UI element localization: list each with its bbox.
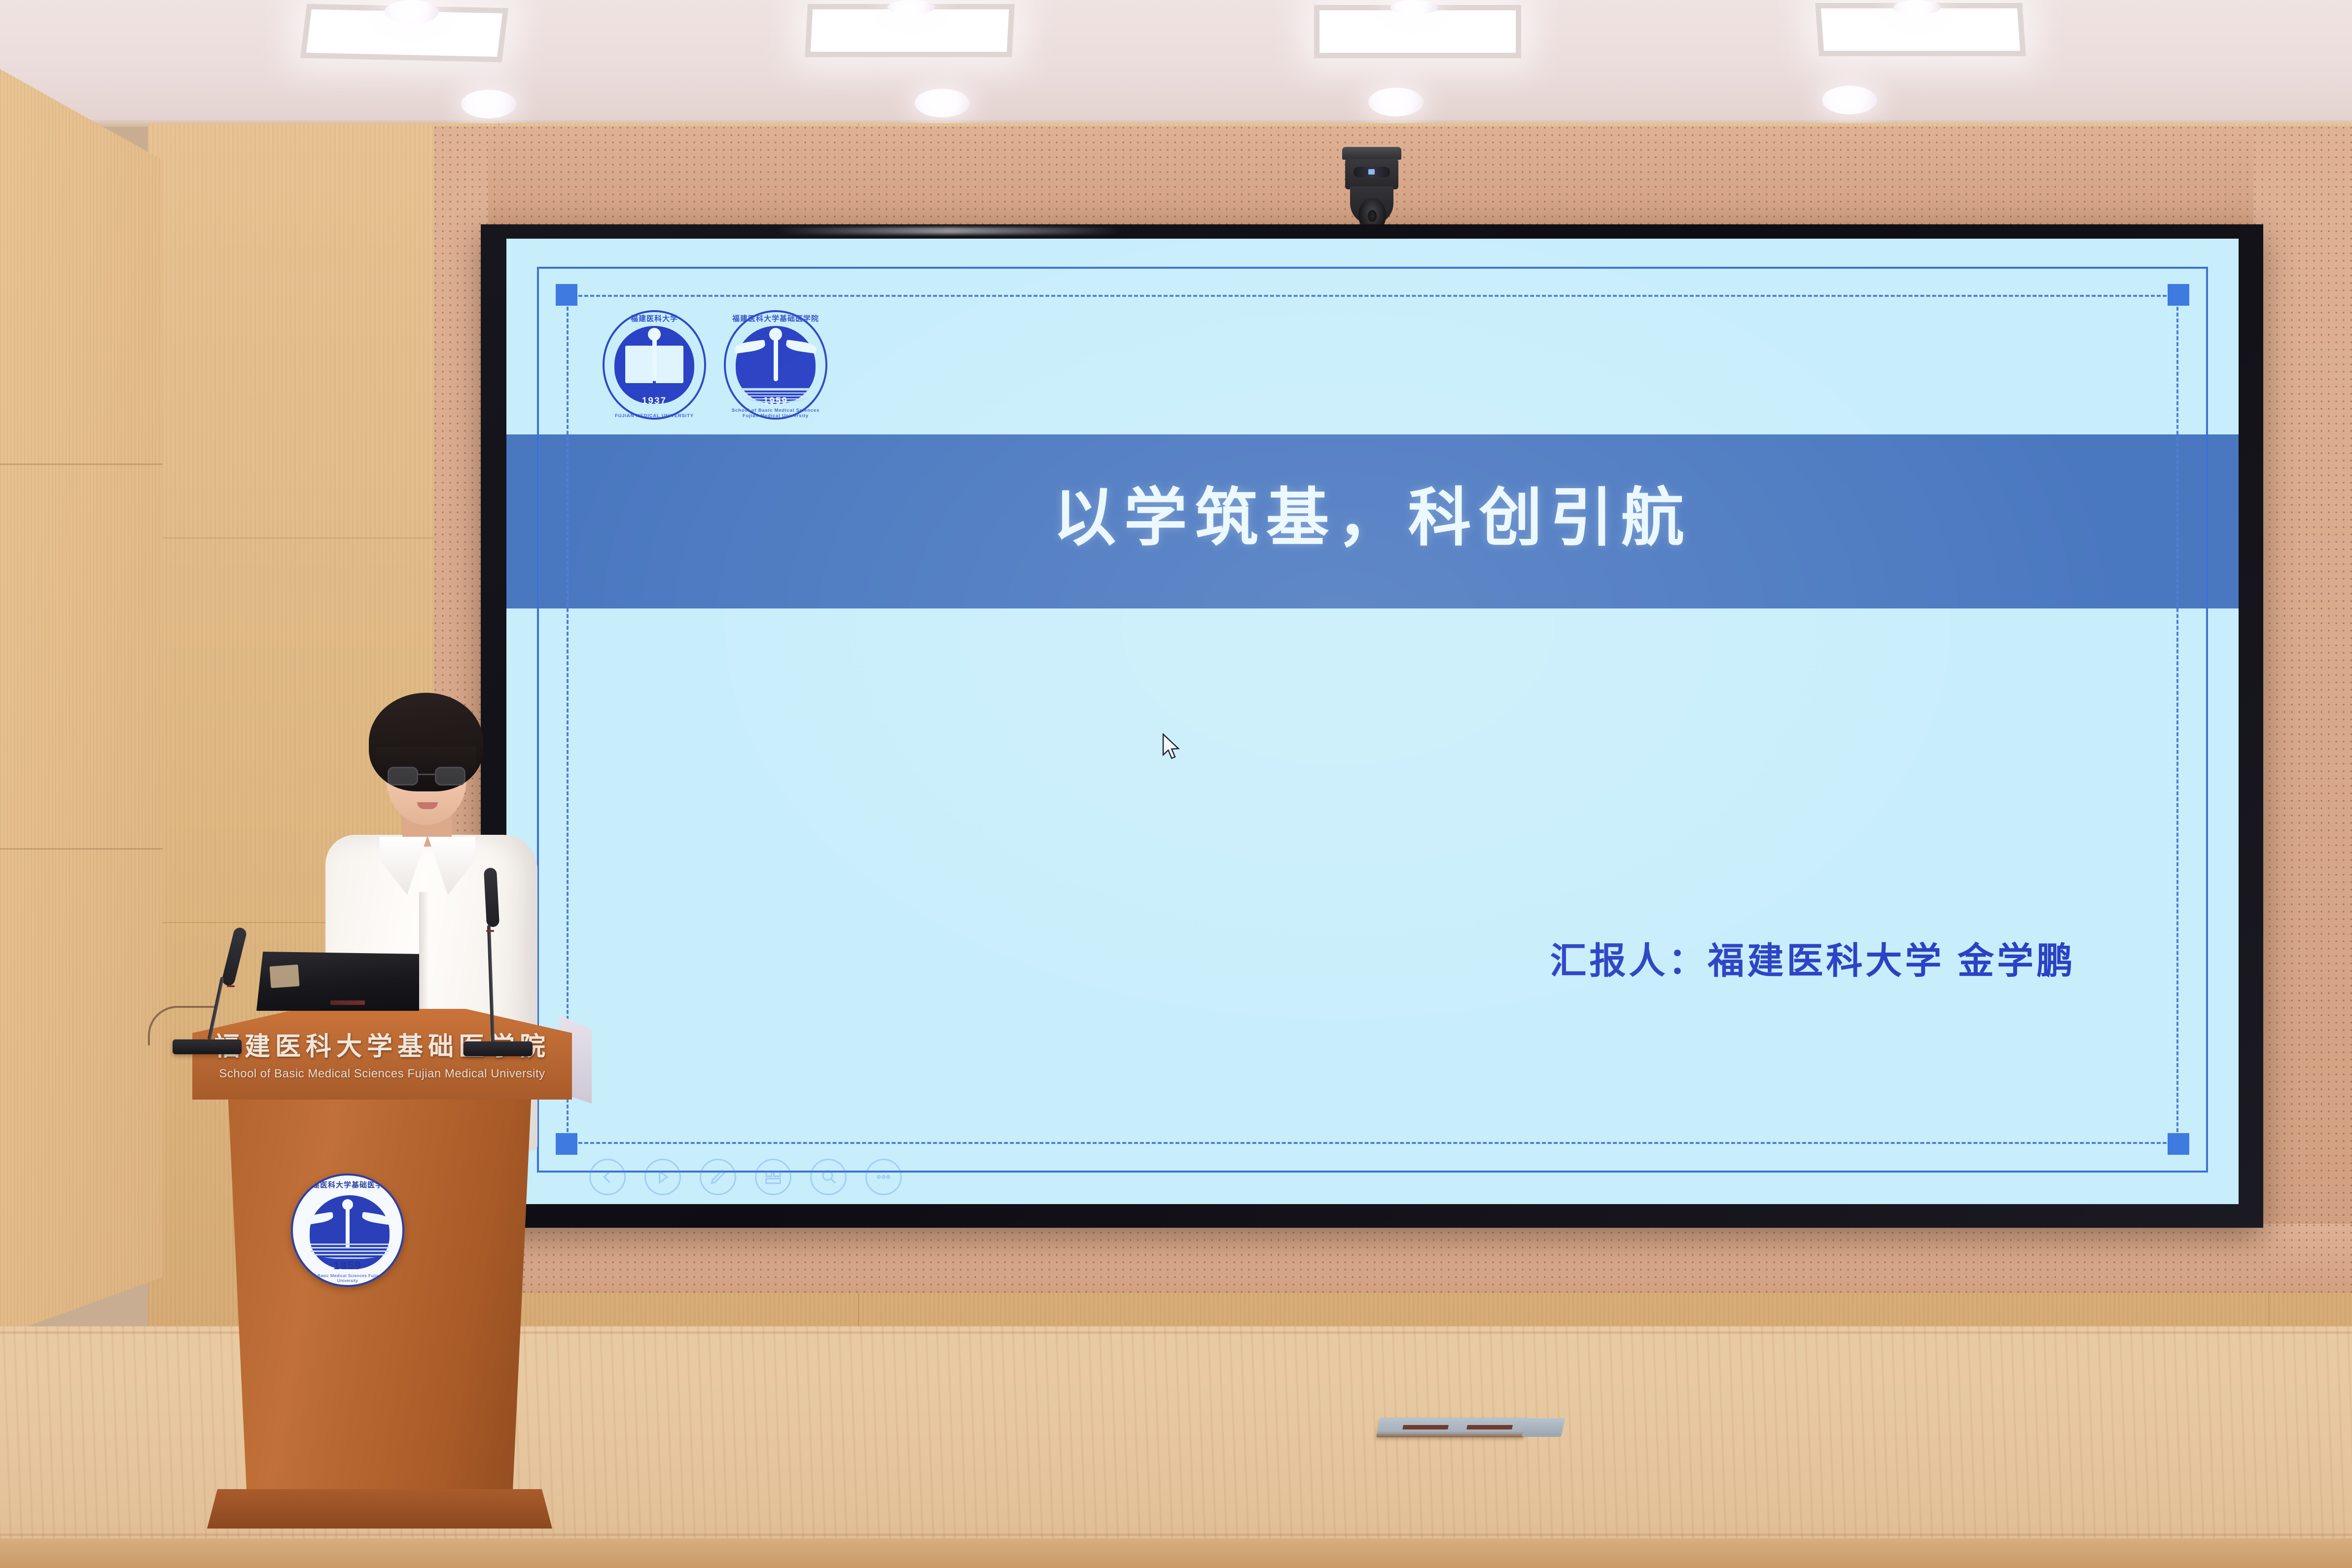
school-of-basic-medical-sciences-logo: 福建医科大学基础医学院 1959 School of Basic Medical… — [724, 310, 827, 420]
corner-marker-bottom-right — [2168, 1133, 2189, 1155]
logo-year: 1937 — [603, 396, 706, 407]
lectern-emblem: 福建医科大学基础医学院 1959 School of Basic Medical… — [291, 1174, 404, 1287]
laptop-brand-logo — [330, 1000, 365, 1005]
gooseneck-microphone-right — [444, 868, 557, 1065]
corner-marker-top-left — [556, 284, 577, 306]
emblem-open-book — [311, 1244, 389, 1259]
acoustic-panel — [434, 1224, 2352, 1293]
emblem-cn-text: 福建医科大学基础医学院 — [293, 1179, 402, 1190]
slide-title: 以学筑基，科创引航 — [506, 466, 2239, 558]
microphone-base — [173, 1039, 242, 1054]
logo-year: 1959 — [724, 396, 827, 407]
ceiling-downlight — [1822, 86, 1877, 114]
microphone-gooseneck — [487, 925, 495, 1043]
previous-slide-icon[interactable] — [589, 1159, 626, 1195]
microphone-base — [463, 1041, 533, 1056]
lecture-hall-scene: 福建医科大学 1937 FUJIAN MEDICAL UNIVERSITY 福建… — [0, 0, 2352, 1568]
logo-caduceus-knob — [648, 328, 661, 341]
microphone-head — [221, 927, 248, 987]
microphone-head — [484, 867, 499, 927]
ceiling-downlight — [1893, 0, 1941, 15]
slide-logos: 福建医科大学 1937 FUJIAN MEDICAL UNIVERSITY 福建… — [603, 310, 827, 420]
microphone-gooseneck — [208, 977, 224, 1040]
pen-icon[interactable] — [700, 1159, 736, 1195]
floor-socket-cover — [1376, 1418, 1529, 1437]
lectern-en-name: School of Basic Medical Sciences Fujian … — [192, 1067, 572, 1081]
logo-en-text: FUJIAN MEDICAL UNIVERSITY — [603, 413, 706, 419]
stage-front-edge — [0, 1538, 2352, 1568]
ceiling-downlight — [385, 0, 439, 24]
floor-socket-cover — [1522, 1418, 1565, 1437]
emblem-caduceus-knob — [342, 1199, 353, 1210]
slideshow-control-bar[interactable] — [589, 1159, 902, 1195]
ceiling-downlight — [915, 89, 970, 117]
camera-body — [1345, 159, 1398, 189]
camera-mount — [1342, 147, 1401, 160]
ceiling-downlight — [461, 90, 516, 118]
emblem-year: 1959 — [293, 1259, 402, 1272]
acoustic-panel — [2253, 126, 2352, 1236]
corner-marker-top-right — [2168, 284, 2189, 306]
slide-author-line: 汇报人：福建医科大学 金学鹏 — [1550, 931, 2076, 984]
more-options-icon[interactable] — [865, 1159, 902, 1195]
zoom-icon[interactable] — [810, 1159, 847, 1195]
wall-seam — [0, 463, 163, 465]
wall-seam — [0, 848, 163, 850]
emblem-en-text: School of Basic Medical Sciences Fujian … — [293, 1273, 402, 1283]
logo-en-text: School of Basic Medical Sciences Fujian … — [724, 408, 827, 419]
microphone-indicator-ring — [227, 985, 235, 987]
ceiling-downlight — [1368, 88, 1424, 116]
lectern-body — [222, 1099, 537, 1503]
lectern-base — [207, 1489, 552, 1529]
bezel-reflection — [777, 227, 1122, 234]
slide-view-icon[interactable] — [755, 1159, 791, 1195]
logo-cn-text: 福建医科大学基础医学院 — [724, 313, 827, 323]
mouse-cursor — [1162, 733, 1183, 764]
logo-caduceus-knob — [769, 328, 782, 341]
play-icon[interactable] — [644, 1159, 681, 1195]
fujian-medical-university-logo: 福建医科大学 1937 FUJIAN MEDICAL UNIVERSITY — [603, 310, 706, 420]
microphone-indicator-ring — [486, 930, 494, 932]
slide-decorative-dashed-border — [567, 295, 2178, 1144]
floor-seam — [0, 1533, 2352, 1536]
gooseneck-microphone-left — [173, 927, 291, 1055]
ceiling-downlight — [1390, 0, 1438, 15]
logo-cn-text: 福建医科大学 — [603, 313, 706, 323]
ceiling-downlight — [888, 0, 935, 15]
camera-ir-array — [1354, 167, 1390, 178]
presenter-glasses — [388, 767, 465, 786]
left-wall — [0, 69, 163, 1336]
presentation-slide[interactable]: 福建医科大学 1937 FUJIAN MEDICAL UNIVERSITY 福建… — [506, 239, 2239, 1204]
lectern: 福建医科大学基础医学院 School of Basic Medical Scie… — [192, 1006, 572, 1529]
